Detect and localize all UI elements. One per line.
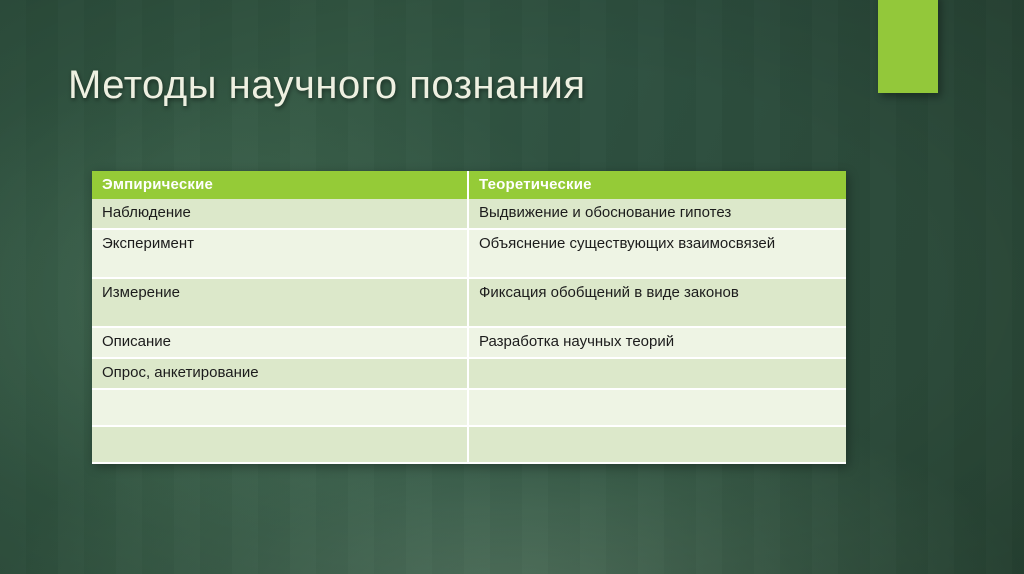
cell-empirical: Измерение: [92, 278, 468, 327]
table-row: Эксперимент Объяснение существующих взаи…: [92, 229, 846, 278]
column-header-empirical: Эмпирические: [92, 171, 468, 199]
cell-empirical: Описание: [92, 327, 468, 358]
table-body: Наблюдение Выдвижение и обоснование гипо…: [92, 199, 846, 463]
cell-theoretical: Разработка научных теорий: [468, 327, 846, 358]
page-title: Методы научного познания: [68, 60, 586, 110]
cell-empirical: [92, 426, 468, 463]
cell-theoretical: Выдвижение и обоснование гипотез: [468, 199, 846, 229]
methods-table: Эмпирические Теоретические Наблюдение Вы…: [92, 171, 846, 464]
cell-theoretical: [468, 389, 846, 426]
cell-empirical: Опрос, анкетирование: [92, 358, 468, 389]
accent-rectangle: [878, 0, 938, 93]
cell-empirical: Эксперимент: [92, 229, 468, 278]
cell-theoretical: Объяснение существующих взаимосвязей: [468, 229, 846, 278]
table-row: Опрос, анкетирование: [92, 358, 846, 389]
methods-table-container: Эмпирические Теоретические Наблюдение Вы…: [92, 171, 846, 464]
table-row: [92, 426, 846, 463]
table-header: Эмпирические Теоретические: [92, 171, 846, 199]
table-row: Описание Разработка научных теорий: [92, 327, 846, 358]
slide: Методы научного познания Эмпирические Те…: [0, 0, 1024, 574]
cell-theoretical: Фиксация обобщений в виде законов: [468, 278, 846, 327]
cell-theoretical: [468, 426, 846, 463]
table-row: Измерение Фиксация обобщений в виде зако…: [92, 278, 846, 327]
column-header-theoretical: Теоретические: [468, 171, 846, 199]
cell-empirical: Наблюдение: [92, 199, 468, 229]
cell-theoretical: [468, 358, 846, 389]
cell-empirical: [92, 389, 468, 426]
table-row: Наблюдение Выдвижение и обоснование гипо…: [92, 199, 846, 229]
table-header-row: Эмпирические Теоретические: [92, 171, 846, 199]
table-row: [92, 389, 846, 426]
